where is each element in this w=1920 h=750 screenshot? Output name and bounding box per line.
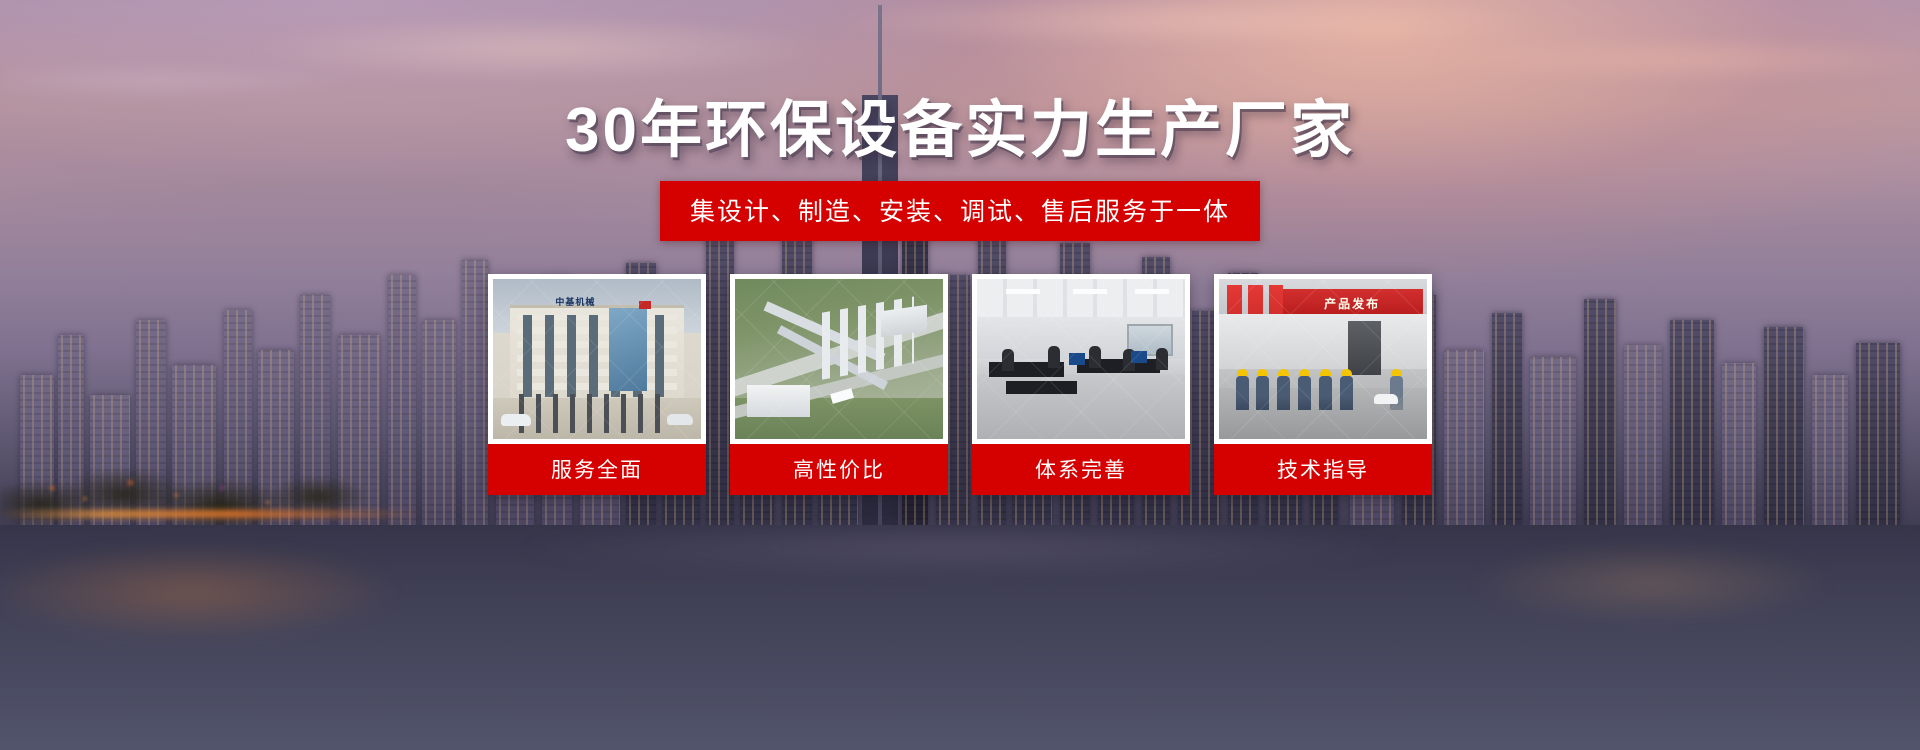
card-photo-plant-aerial <box>735 279 943 439</box>
card-photo-office-interior <box>977 279 1185 439</box>
page-title: 30年环保设备实力生产厂家 <box>565 98 1355 163</box>
card-label: 技术指导 <box>1214 444 1432 495</box>
feature-card-list: 中基机械 服务全面 <box>488 274 1432 495</box>
hero-banner: 30年环保设备实力生产厂家 集设计、制造、安装、调试、售后服务于一体 中基机械 <box>0 0 1920 750</box>
banner-content: 30年环保设备实力生产厂家 集设计、制造、安装、调试、售后服务于一体 中基机械 <box>0 0 1920 750</box>
workshop-banner-text: 产品发布 <box>1281 289 1422 318</box>
card-photo-workshop-training: 产品发布 <box>1219 279 1427 439</box>
feature-card[interactable]: 高性价比 <box>730 274 948 495</box>
card-label: 体系完善 <box>972 444 1190 495</box>
card-label: 高性价比 <box>730 444 948 495</box>
feature-card[interactable]: 体系完善 <box>972 274 1190 495</box>
building-sign-text: 中基机械 <box>555 295 595 308</box>
card-photo-office-building: 中基机械 <box>493 279 701 439</box>
feature-card[interactable]: 中基机械 服务全面 <box>488 274 706 495</box>
feature-card[interactable]: 产品发布 技术 <box>1214 274 1432 495</box>
card-label: 服务全面 <box>488 444 706 495</box>
subtitle-ribbon: 集设计、制造、安装、调试、售后服务于一体 <box>660 181 1260 241</box>
